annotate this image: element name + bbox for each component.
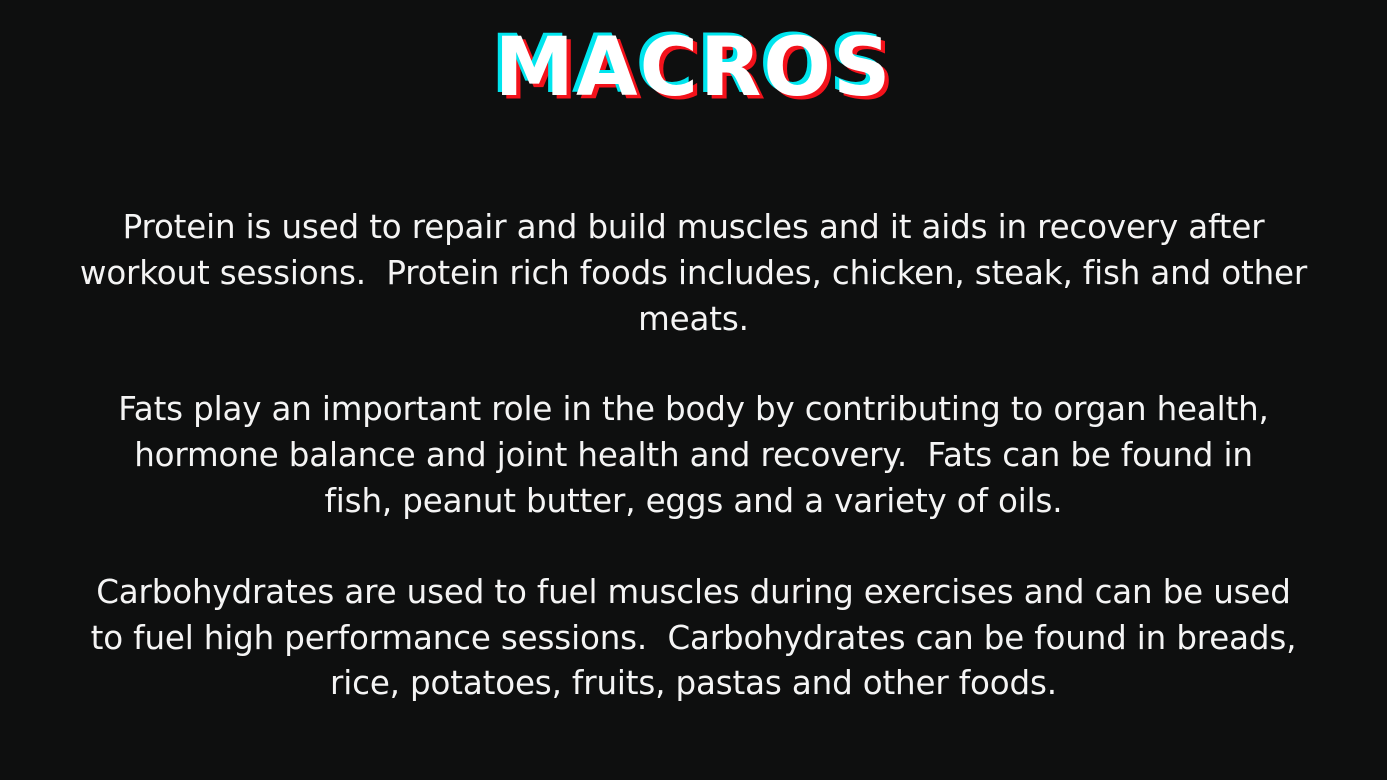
- paragraph-carbohydrates: Carbohydrates are used to fuel muscles d…: [86, 570, 1301, 707]
- slide-canvas: MACROS Protein is used to repair and bui…: [0, 0, 1387, 780]
- paragraph-fats: Fats play an important role in the body …: [114, 387, 1274, 524]
- page-title: MACROS: [495, 23, 893, 113]
- paragraph-protein: Protein is used to repair and build musc…: [67, 205, 1321, 342]
- body-content: Protein is used to repair and build musc…: [54, 205, 1334, 707]
- title-container: MACROS: [0, 26, 1387, 118]
